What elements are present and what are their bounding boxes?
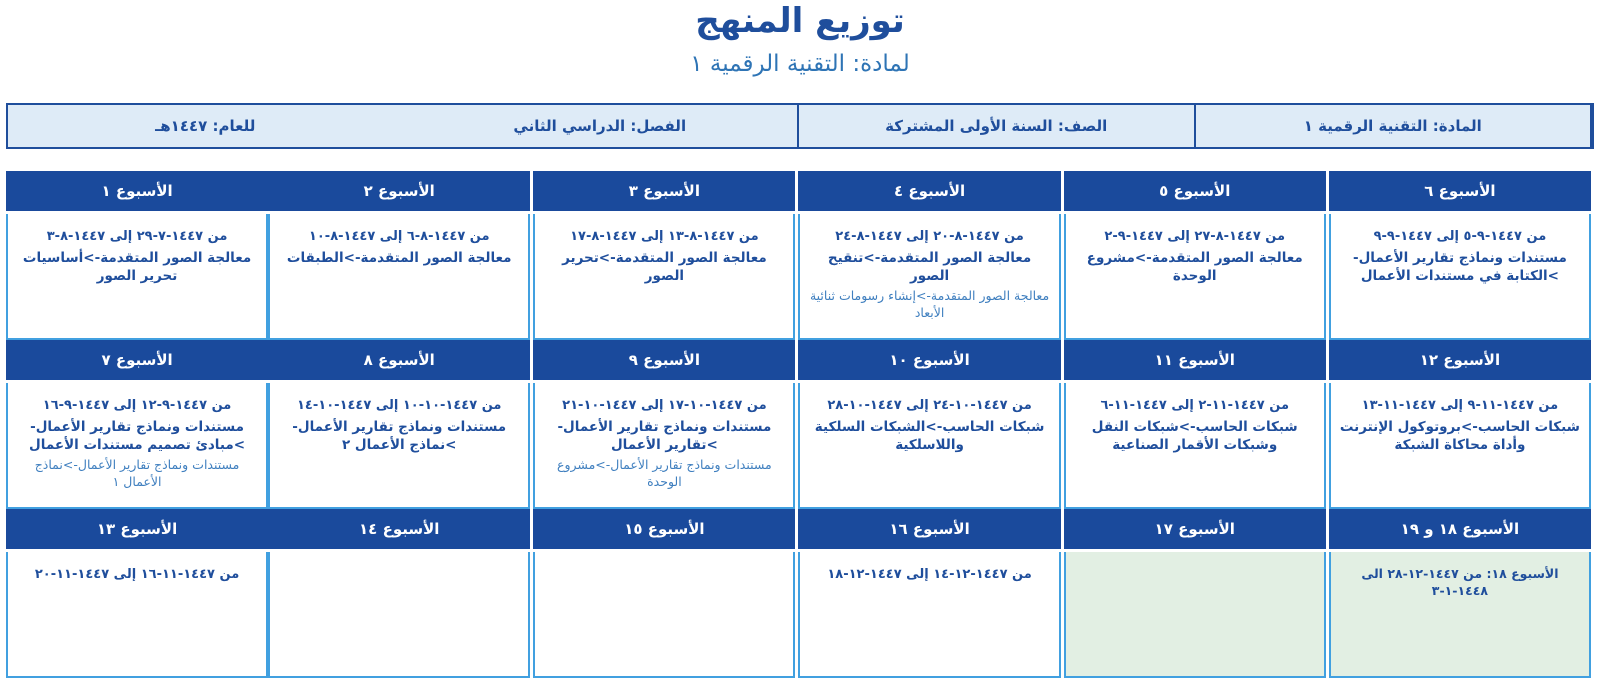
- week-body: من ١٤٤٧-٨-٢٧ إلى ١٤٤٧-٩-٢ معالجة الصور ا…: [1064, 214, 1326, 340]
- week-cell: الأسبوع ٤ من ١٤٤٧-٨-٢٠ إلى ١٤٤٧-٨-٢٤ معا…: [798, 171, 1063, 340]
- week-body: من ١٤٤٧-١١-٢ إلى ١٤٤٧-١١-٦ شبكات الحاسب-…: [1064, 383, 1326, 509]
- week-cell: الأسبوع ١٢ من ١٤٤٧-١١-٩ إلى ١٤٤٧-١١-١٣ ش…: [1329, 340, 1594, 509]
- week-topic: معالجة الصور المتقدمة->تنقيح الصور: [807, 249, 1051, 285]
- week-body: من ١٤٤٧-٩-١٢ إلى ١٤٤٧-٩-١٦ مستندات ونماذ…: [6, 383, 268, 509]
- week-dates: من ١٤٤٧-٩-١٢ إلى ١٤٤٧-٩-١٦: [15, 397, 259, 415]
- week-header: الأسبوع ١٨ و ١٩: [1329, 509, 1591, 552]
- week-dates: من ١٤٤٧-١١-١٦ إلى ١٤٤٧-١١-٢٠: [15, 566, 259, 584]
- week-cell: الأسبوع ١ من ١٤٤٧-٧-٢٩ إلى ١٤٤٧-٨-٣ معال…: [6, 171, 268, 340]
- week-body: من ١٤٤٧-٨-١٣ إلى ١٤٤٧-٨-١٧ معالجة الصور …: [533, 214, 795, 340]
- week-body: من ١٤٤٧-١٠-٢٤ إلى ١٤٤٧-١٠-٢٨ شبكات الحاس…: [798, 383, 1060, 509]
- week-body: [533, 552, 795, 678]
- week-topic: معالجة الصور المتقدمة->الطبقات: [277, 249, 521, 267]
- week-topic: معالجة الصور المتقدمة->أساسيات تحرير الص…: [15, 249, 259, 285]
- week-dates: من ١٤٤٧-١٢-١٤ إلى ١٤٤٧-١٢-١٨: [807, 566, 1051, 584]
- week-cell: الأسبوع ٢ من ١٤٤٧-٨-٦ إلى ١٤٤٧-٨-١٠ معال…: [268, 171, 533, 340]
- week-header: الأسبوع ١٤: [268, 509, 530, 552]
- week-dates: من ١٤٤٧-٧-٢٩ إلى ١٤٤٧-٨-٣: [15, 228, 259, 246]
- week-cell: الأسبوع ٨ من ١٤٤٧-١٠-١٠ إلى ١٤٤٧-١٠-١٤ م…: [268, 340, 533, 509]
- week-cell: الأسبوع ٦ من ١٤٤٧-٩-٥ إلى ١٤٤٧-٩-٩ مستند…: [1329, 171, 1594, 340]
- week-header: الأسبوع ١٧: [1064, 509, 1326, 552]
- week-header: الأسبوع ١٦: [798, 509, 1060, 552]
- week-body: من ١٤٤٧-١٢-١٤ إلى ١٤٤٧-١٢-١٨: [798, 552, 1060, 678]
- week-header: الأسبوع ٦: [1329, 171, 1591, 214]
- info-cell-grade: الصف: السنة الأولى المشتركة: [799, 105, 1196, 147]
- week-body: [1064, 552, 1326, 678]
- week-header: الأسبوع ١٥: [533, 509, 795, 552]
- week-cell: الأسبوع ٥ من ١٤٤٧-٨-٢٧ إلى ١٤٤٧-٩-٢ معال…: [1064, 171, 1329, 340]
- week-header: الأسبوع ١١: [1064, 340, 1326, 383]
- week-header: الأسبوع ٤: [798, 171, 1060, 214]
- week-cell: الأسبوع ١٨ و ١٩ الأسبوع ١٨: من ١٤٤٧-١٢-٢…: [1329, 509, 1594, 678]
- week-body: من ١٤٤٧-٧-٢٩ إلى ١٤٤٧-٨-٣ معالجة الصور ا…: [6, 214, 268, 340]
- week-header: الأسبوع ١٣: [6, 509, 268, 552]
- weeks-row: الأسبوع ١٢ من ١٤٤٧-١١-٩ إلى ١٤٤٧-١١-١٣ ش…: [6, 340, 1594, 509]
- week-header: الأسبوع ٣: [533, 171, 795, 214]
- info-cell-subject: المادة: التقنية الرقمية ١: [1196, 105, 1593, 147]
- curriculum-distribution-page: توزيع المنهج لمادة: التقنية الرقمية ١ ال…: [0, 0, 1600, 607]
- week-dates: من ١٤٤٧-١٠-٢٤ إلى ١٤٤٧-١٠-٢٨: [807, 397, 1051, 415]
- page-title: توزيع المنهج: [0, 2, 1600, 41]
- week-header: الأسبوع ١: [6, 171, 268, 214]
- week-body: من ١٤٤٧-٨-٢٠ إلى ١٤٤٧-٨-٢٤ معالجة الصور …: [798, 214, 1060, 340]
- course-info-bar: المادة: التقنية الرقمية ١ الصف: السنة ال…: [6, 103, 1594, 149]
- week-topic-secondary: مستندات ونماذج تقارير الأعمال->نماذج الأ…: [15, 457, 259, 491]
- week-cell: الأسبوع ١٠ من ١٤٤٧-١٠-٢٤ إلى ١٤٤٧-١٠-٢٨ …: [798, 340, 1063, 509]
- week-body: [268, 552, 530, 678]
- week-cell: الأسبوع ١٦ من ١٤٤٧-١٢-١٤ إلى ١٤٤٧-١٢-١٨: [798, 509, 1063, 678]
- week-body: من ١٤٤٧-١١-١٦ إلى ١٤٤٧-١١-٢٠: [6, 552, 268, 678]
- week-dates: من ١٤٤٧-١٠-١٠ إلى ١٤٤٧-١٠-١٤: [277, 397, 521, 415]
- week-header: الأسبوع ١٠: [798, 340, 1060, 383]
- week-cell: الأسبوع ٩ من ١٤٤٧-١٠-١٧ إلى ١٤٤٧-١٠-٢١ م…: [533, 340, 798, 509]
- week-header: الأسبوع ٧: [6, 340, 268, 383]
- week-cell: الأسبوع ٧ من ١٤٤٧-٩-١٢ إلى ١٤٤٧-٩-١٦ مست…: [6, 340, 268, 509]
- week-topic: مستندات ونماذج تقارير الأعمال->نماذج الأ…: [277, 418, 521, 454]
- week-dates: من ١٤٤٧-٨-٢٠ إلى ١٤٤٧-٨-٢٤: [807, 228, 1051, 246]
- week-body: الأسبوع ١٨: من ١٤٤٧-١٢-٢٨ الى ١٤٤٨-١-٣: [1329, 552, 1591, 678]
- week-topic: شبكات الحاسب->شبكات النقل وشبكات الأقمار…: [1073, 418, 1317, 454]
- week-dates: من ١٤٤٧-٨-١٣ إلى ١٤٤٧-٨-١٧: [542, 228, 786, 246]
- week-cell: الأسبوع ٣ من ١٤٤٧-٨-١٣ إلى ١٤٤٧-٨-١٧ معا…: [533, 171, 798, 340]
- week-topic: شبكات الحاسب->الشبكات السلكية واللاسلكية: [807, 418, 1051, 454]
- week-topic: شبكات الحاسب->بروتوكول الإنترنت وأداة مح…: [1338, 418, 1582, 454]
- week-topic: مستندات ونماذج تقارير الأعمال->الكتابة ف…: [1338, 249, 1582, 285]
- week-cell: الأسبوع ١٧: [1064, 509, 1329, 678]
- weeks-grid: الأسبوع ٦ من ١٤٤٧-٩-٥ إلى ١٤٤٧-٩-٩ مستند…: [6, 171, 1594, 678]
- week-topic-secondary: مستندات ونماذج تقارير الأعمال->مشروع الو…: [542, 457, 786, 491]
- week-dates: من ١٤٤٧-٩-٥ إلى ١٤٤٧-٩-٩: [1338, 228, 1582, 246]
- week-body: من ١٤٤٧-١١-٩ إلى ١٤٤٧-١١-١٣ شبكات الحاسب…: [1329, 383, 1591, 509]
- week-header: الأسبوع ٢: [268, 171, 530, 214]
- week-body: من ١٤٤٧-١٠-١٧ إلى ١٤٤٧-١٠-٢١ مستندات ونم…: [533, 383, 795, 509]
- week-header: الأسبوع ١٢: [1329, 340, 1591, 383]
- week-dates: من ١٤٤٧-١١-٩ إلى ١٤٤٧-١١-١٣: [1338, 397, 1582, 415]
- weeks-row: الأسبوع ١٨ و ١٩ الأسبوع ١٨: من ١٤٤٧-١٢-٢…: [6, 509, 1594, 678]
- info-cell-year: للعام: ١٤٤٧هـ: [8, 105, 403, 147]
- week-dates: من ١٤٤٧-٨-٢٧ إلى ١٤٤٧-٩-٢: [1073, 228, 1317, 246]
- week-cell: الأسبوع ١٤: [268, 509, 533, 678]
- week-dates: الأسبوع ١٨: من ١٤٤٧-١٢-٢٨ الى ١٤٤٨-١-٣: [1338, 566, 1582, 600]
- week-topic-secondary: معالجة الصور المتقدمة->إنشاء رسومات ثنائ…: [807, 288, 1051, 322]
- week-header: الأسبوع ٨: [268, 340, 530, 383]
- week-dates: من ١٤٤٧-٨-٦ إلى ١٤٤٧-٨-١٠: [277, 228, 521, 246]
- week-topic: معالجة الصور المتقدمة->مشروع الوحدة: [1073, 249, 1317, 285]
- week-topic: مستندات ونماذج تقارير الأعمال->تقارير ال…: [542, 418, 786, 454]
- weeks-row: الأسبوع ٦ من ١٤٤٧-٩-٥ إلى ١٤٤٧-٩-٩ مستند…: [6, 171, 1594, 340]
- week-dates: من ١٤٤٧-١١-٢ إلى ١٤٤٧-١١-٦: [1073, 397, 1317, 415]
- week-topic: معالجة الصور المتقدمة->تحرير الصور: [542, 249, 786, 285]
- week-body: من ١٤٤٧-١٠-١٠ إلى ١٤٤٧-١٠-١٤ مستندات ونم…: [268, 383, 530, 509]
- info-cell-term: الفصل: الدراسي الثاني: [403, 105, 800, 147]
- week-topic: مستندات ونماذج تقارير الأعمال->مبادئ تصم…: [15, 418, 259, 454]
- page-subtitle: لمادة: التقنية الرقمية ١: [0, 51, 1600, 79]
- week-header: الأسبوع ٩: [533, 340, 795, 383]
- week-header: الأسبوع ٥: [1064, 171, 1326, 214]
- week-cell: الأسبوع ١٥: [533, 509, 798, 678]
- week-body: من ١٤٤٧-٨-٦ إلى ١٤٤٧-٨-١٠ معالجة الصور ا…: [268, 214, 530, 340]
- week-dates: من ١٤٤٧-١٠-١٧ إلى ١٤٤٧-١٠-٢١: [542, 397, 786, 415]
- week-body: من ١٤٤٧-٩-٥ إلى ١٤٤٧-٩-٩ مستندات ونماذج …: [1329, 214, 1591, 340]
- week-cell: الأسبوع ١٣ من ١٤٤٧-١١-١٦ إلى ١٤٤٧-١١-٢٠: [6, 509, 268, 678]
- week-cell: الأسبوع ١١ من ١٤٤٧-١١-٢ إلى ١٤٤٧-١١-٦ شب…: [1064, 340, 1329, 509]
- title-block: توزيع المنهج لمادة: التقنية الرقمية ١: [0, 0, 1600, 79]
